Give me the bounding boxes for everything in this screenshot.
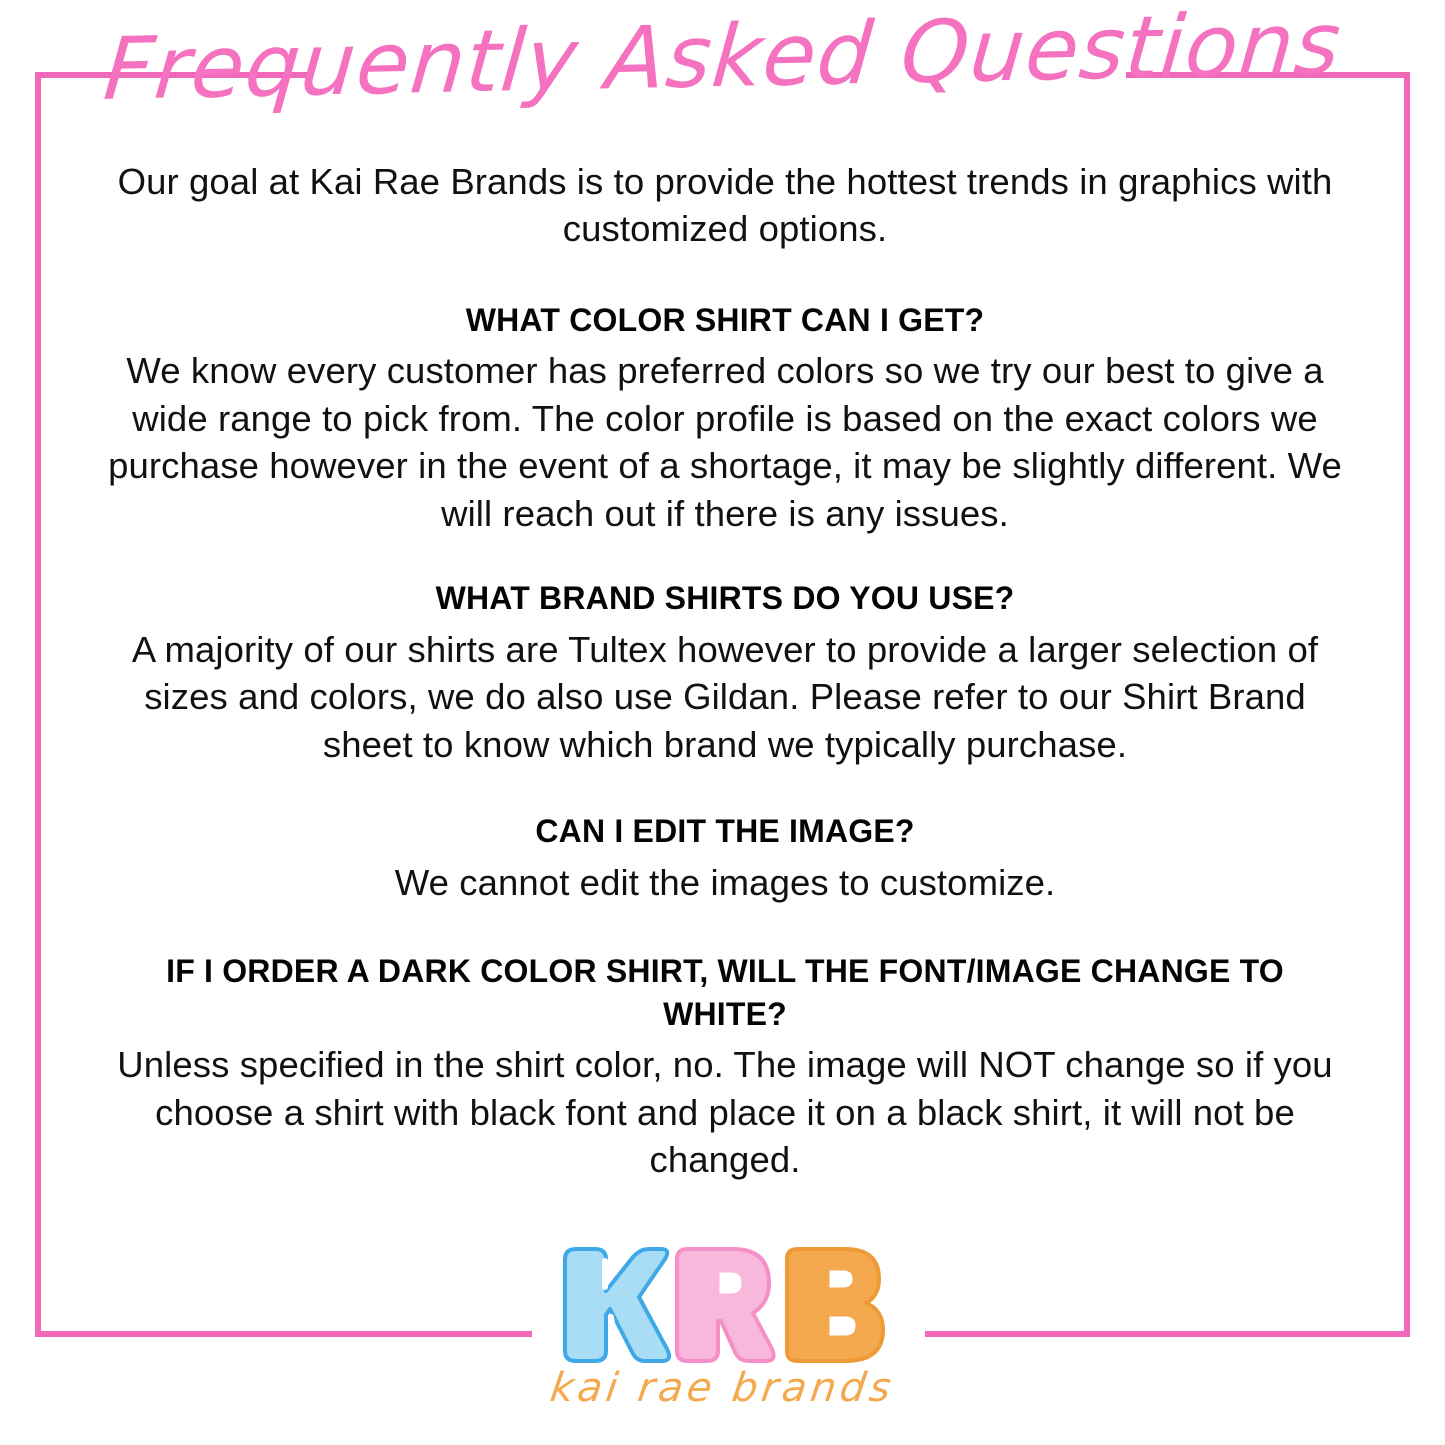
faq-question: IF I ORDER A DARK COLOR SHIRT, WILL THE … — [100, 950, 1350, 1035]
brand-logo: kai rae brands — [0, 1243, 1445, 1411]
faq-question: CAN I EDIT THE IMAGE? — [100, 810, 1350, 853]
faq-item: WHAT COLOR SHIRT CAN I GET? We know ever… — [100, 299, 1350, 537]
faq-answer: We know every customer has preferred col… — [100, 347, 1350, 537]
faq-answer: We cannot edit the images to customize. — [100, 859, 1350, 906]
faq-content: Our goal at Kai Rae Brands is to provide… — [100, 158, 1350, 1183]
krb-monogram-icon — [0, 1243, 1445, 1371]
faq-answer: A majority of our shirts are Tultex howe… — [100, 626, 1350, 768]
faq-item: IF I ORDER A DARK COLOR SHIRT, WILL THE … — [100, 950, 1350, 1183]
frame-right-segment — [1404, 72, 1410, 1337]
faq-question: WHAT COLOR SHIRT CAN I GET? — [100, 299, 1350, 342]
faq-item: WHAT BRAND SHIRTS DO YOU USE? A majority… — [100, 577, 1350, 768]
faq-question: WHAT BRAND SHIRTS DO YOU USE? — [100, 577, 1350, 620]
page-title: Frequently Asked Questions — [0, 0, 1445, 122]
faq-item: CAN I EDIT THE IMAGE? We cannot edit the… — [100, 810, 1350, 906]
faq-graphic: Frequently Asked Questions Our goal at K… — [0, 0, 1445, 1445]
logo-wordmark: kai rae brands — [0, 1365, 1445, 1411]
faq-answer: Unless specified in the shirt color, no.… — [100, 1041, 1350, 1183]
intro-paragraph: Our goal at Kai Rae Brands is to provide… — [100, 158, 1350, 253]
frame-left-segment — [35, 72, 41, 1337]
